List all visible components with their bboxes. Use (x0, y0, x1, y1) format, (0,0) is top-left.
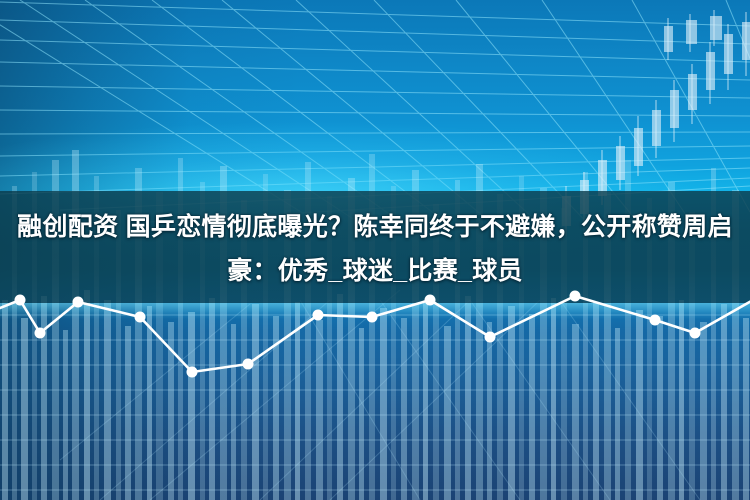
headline-line-2: 豪：优秀_球迷_比赛_球员 (4, 249, 746, 293)
headline-line-1: 融创配资 国乒恋情彻底曝光？陈幸同终于不避嫌，公开称赞周启 (4, 205, 746, 249)
article-thumbnail-image: 融创配资 国乒恋情彻底曝光？陈幸同终于不避嫌，公开称赞周启 豪：优秀_球迷_比赛… (0, 0, 750, 500)
zigzag-polyline (0, 296, 750, 372)
headline-text: 融创配资 国乒恋情彻底曝光？陈幸同终于不避嫌，公开称赞周启 豪：优秀_球迷_比赛… (0, 205, 750, 293)
